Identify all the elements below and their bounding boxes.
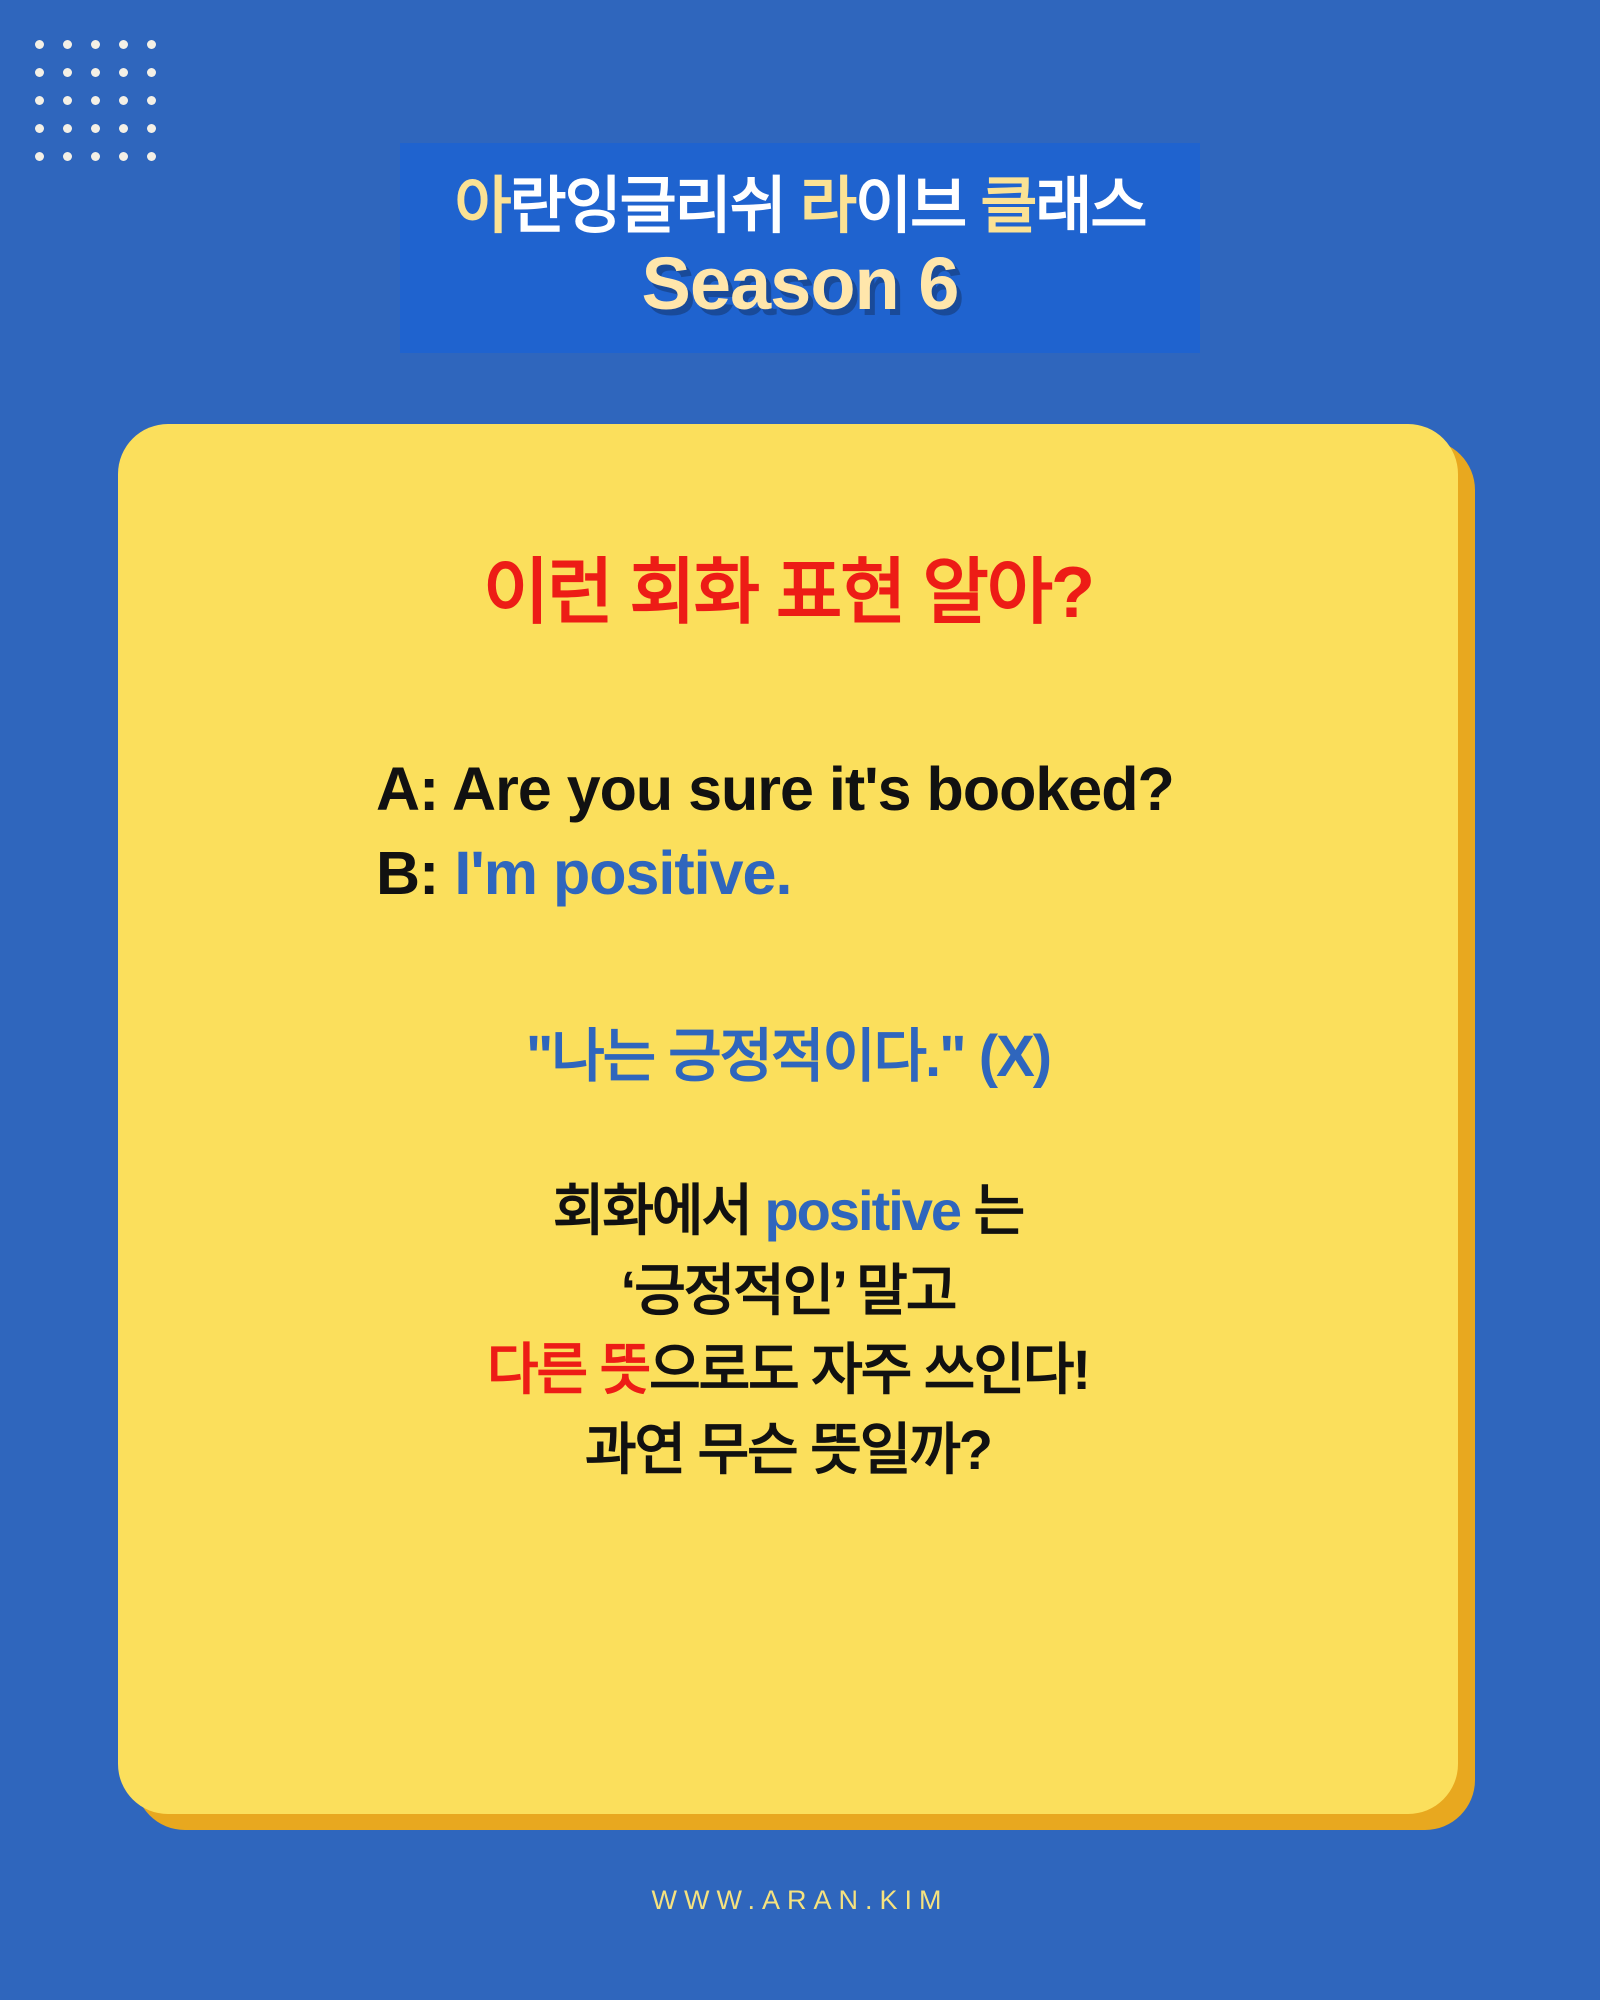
speaker-a-label: A: — [376, 755, 438, 823]
dot — [35, 40, 44, 49]
footer-url: WWW.ARAN.KIM — [0, 1885, 1600, 1916]
explanation-block: 회화에서 positive 는 ‘긍정적인’ 말고 다른 뜻으로도 자주 쓰인다… — [188, 1171, 1388, 1489]
content-card: 이런 회화 표현 알아? A: Are you sure it's booked… — [118, 424, 1458, 1814]
dot — [63, 96, 72, 105]
dot — [147, 152, 156, 161]
explanation-line-3-highlight: 다른 뜻 — [487, 1338, 649, 1401]
explanation-line-3: 다른 뜻으로도 자주 쓰인다! — [188, 1330, 1388, 1410]
dialogue-block: A: Are you sure it's booked? B: I'm posi… — [188, 747, 1388, 915]
translation-text: "나는 긍정적이다." (X) — [188, 1009, 1388, 1093]
dot — [63, 124, 72, 133]
dialogue-line-a: A: Are you sure it's booked? — [376, 747, 1388, 831]
dot — [91, 40, 100, 49]
brand-part-3: 라 — [800, 172, 855, 241]
explanation-keyword: positive — [764, 1179, 960, 1242]
explanation-line-3-rest: 으로도 자주 쓰인다! — [649, 1338, 1089, 1401]
dialogue-line-b: B: I'm positive. — [376, 831, 1388, 915]
dot — [147, 40, 156, 49]
dot — [35, 96, 44, 105]
dot — [91, 152, 100, 161]
brand-part-6: 래스 — [1035, 172, 1145, 241]
explanation-line-2: ‘긍정적인’ 말고 — [188, 1251, 1388, 1331]
speaker-b-label: B: — [376, 839, 438, 907]
dot — [63, 68, 72, 77]
dot — [35, 124, 44, 133]
header-banner: 아란잉글리쉬 라이브 클래스 Season 6 — [400, 143, 1200, 353]
dot — [35, 152, 44, 161]
dot — [119, 96, 128, 105]
explanation-line-1: 회화에서 positive 는 — [188, 1171, 1388, 1251]
dot — [63, 152, 72, 161]
explanation-line-1-suffix: 는 — [960, 1179, 1023, 1242]
card-title: 이런 회화 표현 알아? — [188, 552, 1388, 635]
dot — [91, 68, 100, 77]
brand-title: 아란잉글리쉬 라이브 클래스 — [455, 174, 1146, 239]
dot — [35, 68, 44, 77]
brand-part-2: 란잉글리쉬 — [510, 172, 800, 241]
poster-root: 아란잉글리쉬 라이브 클래스 Season 6 이런 회화 표현 알아? A: … — [0, 0, 1600, 2000]
dot-grid-decoration — [35, 40, 175, 180]
dot — [147, 68, 156, 77]
brand-part-4: 이브 — [855, 172, 980, 241]
explanation-line-4: 과연 무슨 뜻일까? — [188, 1410, 1388, 1490]
dialogue-a-text: Are you sure it's booked? — [438, 755, 1173, 823]
dot — [119, 40, 128, 49]
dot — [147, 96, 156, 105]
dot — [91, 96, 100, 105]
dot — [119, 68, 128, 77]
dot — [147, 124, 156, 133]
dialogue-b-text: I'm positive. — [438, 839, 791, 907]
dot — [91, 124, 100, 133]
dot — [63, 40, 72, 49]
explanation-line-1-prefix: 회화에서 — [553, 1179, 765, 1242]
dot — [119, 152, 128, 161]
season-label: Season 6 — [642, 241, 959, 326]
dot — [119, 124, 128, 133]
brand-part-1: 아 — [455, 172, 510, 241]
brand-part-5: 클 — [980, 172, 1035, 241]
